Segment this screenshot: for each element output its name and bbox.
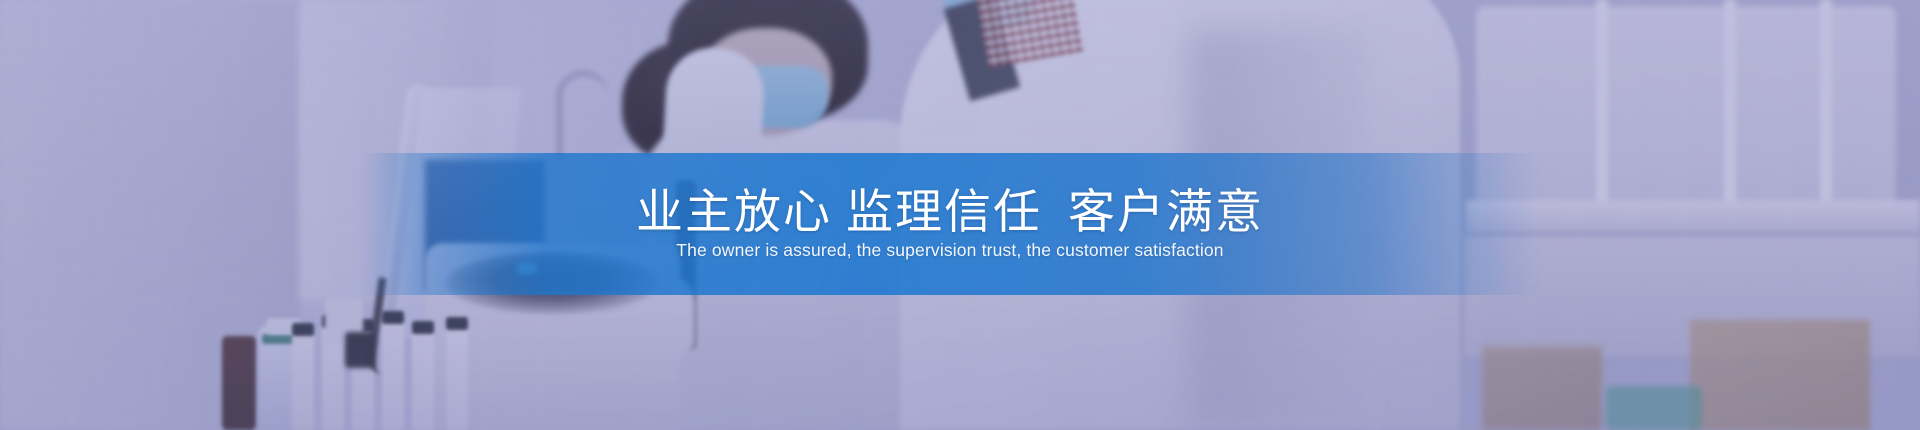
hero-banner: 业主放心监理信任客户满意 The owner is assured, the s… xyxy=(0,0,1920,430)
caption-band: 业主放心监理信任客户满意 The owner is assured, the s… xyxy=(360,153,1540,295)
headline-part-3: 客户满意 xyxy=(1068,185,1264,238)
banner-headline: 业主放心监理信任客户满意 xyxy=(636,187,1264,236)
banner-subtitle: The owner is assured, the supervision tr… xyxy=(676,240,1223,261)
caption-content: 业主放心监理信任客户满意 The owner is assured, the s… xyxy=(360,153,1540,295)
headline-part-2: 监理信任 xyxy=(846,185,1042,238)
headline-part-1: 业主放心 xyxy=(636,185,832,238)
